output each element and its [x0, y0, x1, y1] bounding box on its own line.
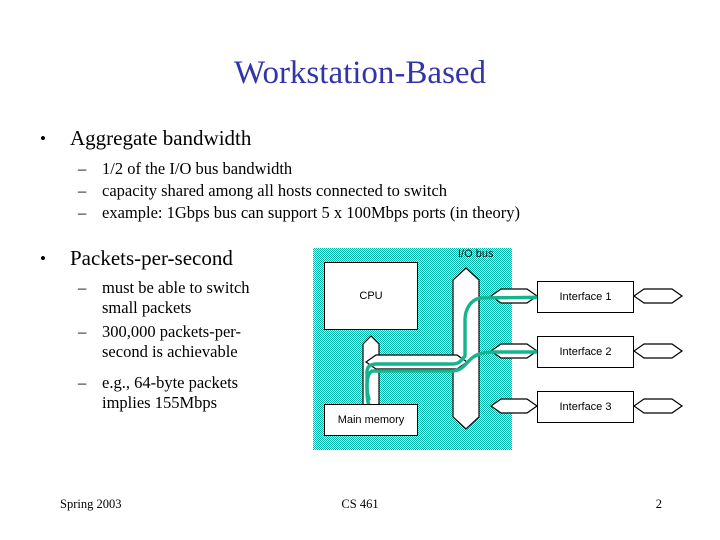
external-link-arrow-2: [634, 344, 682, 358]
interface-label: Interface 1: [560, 291, 612, 303]
sub-bullet-label: must be able to switch small packets: [102, 278, 284, 318]
page-title: Workstation-Based: [0, 54, 720, 92]
dash-marker-icon: –: [78, 159, 86, 179]
interface-label: Interface 3: [560, 401, 612, 413]
sub-bullet-1-1: – 1/2 of the I/O bus bandwidth: [78, 159, 292, 179]
main-memory-box: Main memory: [324, 404, 418, 436]
sub-bullet-label: e.g., 64-byte packets implies 155Mbps: [102, 373, 284, 413]
sub-bullet-2-2: – 300,000 packets-per-second is achievab…: [78, 322, 284, 362]
cpu-label: CPU: [359, 290, 382, 302]
sub-bullet-1-3: – example: 1Gbps bus can support 5 x 100…: [78, 203, 520, 223]
interface-box-2: Interface 2: [537, 336, 634, 368]
interface-box-1: Interface 1: [537, 281, 634, 313]
bullet-marker-icon: •: [40, 126, 46, 151]
bullet-packets-per-second: • Packets-per-second: [40, 246, 233, 271]
interface-label: Interface 2: [560, 346, 612, 358]
external-link-arrow-3: [634, 399, 682, 413]
bullet-label: Packets-per-second: [70, 246, 233, 271]
interface-box-3: Interface 3: [537, 391, 634, 423]
sub-bullet-label: capacity shared among all hosts connecte…: [102, 181, 447, 201]
sub-bullet-1-2: – capacity shared among all hosts connec…: [78, 181, 447, 201]
bullet-marker-icon: •: [40, 246, 46, 271]
footer-page-number: 2: [0, 497, 720, 512]
bullet-label: Aggregate bandwidth: [70, 126, 251, 151]
dash-marker-icon: –: [78, 322, 86, 342]
slide-canvas: Workstation-Based • Aggregate bandwidth …: [0, 0, 720, 540]
main-memory-label: Main memory: [338, 414, 405, 426]
sub-bullet-label: 1/2 of the I/O bus bandwidth: [102, 159, 292, 179]
io-bus-label: I/O bus: [458, 248, 493, 260]
sub-bullet-2-3: – e.g., 64-byte packets implies 155Mbps: [78, 373, 284, 413]
sub-bullet-label: example: 1Gbps bus can support 5 x 100Mb…: [102, 203, 520, 223]
dash-marker-icon: –: [78, 203, 86, 223]
dash-marker-icon: –: [78, 373, 86, 393]
external-link-arrow-1: [634, 289, 682, 303]
dash-marker-icon: –: [78, 181, 86, 201]
sub-bullet-label: 300,000 packets-per-second is achievable: [102, 322, 284, 362]
sub-bullet-2-1: – must be able to switch small packets: [78, 278, 284, 318]
dash-marker-icon: –: [78, 278, 86, 298]
cpu-box: CPU: [324, 262, 418, 330]
bullet-aggregate-bandwidth: • Aggregate bandwidth: [40, 126, 251, 151]
